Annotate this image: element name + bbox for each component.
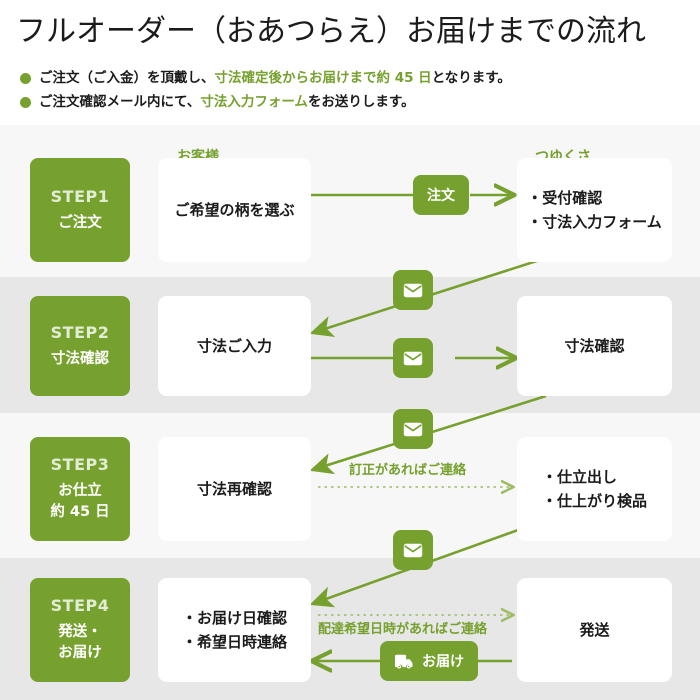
card-shop-step3-line1: ・仕立出し — [542, 465, 647, 489]
bullet-icon — [20, 97, 31, 108]
note-2-text-before: ご注文確認メール内にて、 — [39, 92, 200, 112]
card-customer-step1-text: ご希望の柄を選ぶ — [174, 198, 294, 222]
card-customer-step1: ご希望の柄を選ぶ — [158, 158, 311, 262]
card-shop-step4-text: 発送 — [579, 618, 609, 642]
page-title: フルオーダー（おあつらえ）お届けまでの流れ — [16, 10, 688, 54]
card-shop-step3: ・仕立出し ・仕上がり検品 — [517, 437, 672, 541]
mail-icon — [403, 422, 423, 437]
step-2-number: STEP2 — [51, 323, 110, 342]
badge-mail-3[interactable] — [393, 409, 433, 449]
card-shop-step3-line2: ・仕上がり検品 — [542, 489, 647, 513]
header: フルオーダー（おあつらえ）お届けまでの流れ ご注文（ご入金）を頂戴し、 寸法確定… — [0, 0, 700, 125]
card-shop-step2-text: 寸法確認 — [564, 334, 624, 358]
badge-delivery-label: お届け — [422, 651, 464, 671]
card-customer-step4-line1: ・お届け日確認 — [182, 606, 287, 630]
step-chip-2: STEP2 寸法確認 — [30, 296, 130, 396]
card-customer-step2-text: 寸法ご入力 — [197, 334, 272, 358]
step-3-name: お仕立 約 45 日 — [50, 481, 109, 523]
step-1-name: ご注文 — [58, 213, 102, 234]
card-customer-step3-text: 寸法再確認 — [197, 477, 272, 501]
card-customer-step4-line2: ・希望日時連絡 — [182, 630, 287, 654]
caption-step3-dotted: 訂正があればご連絡 — [349, 459, 466, 478]
step-chip-1: STEP1 ご注文 — [30, 158, 130, 262]
badge-mail-4[interactable] — [393, 530, 433, 570]
mail-icon — [403, 543, 423, 558]
step-3-name-line1: お仕立 — [58, 483, 102, 499]
step-chip-4: STEP4 発送・ お届け — [30, 578, 130, 682]
note-2-text-after: をお送りします。 — [308, 92, 415, 112]
card-shop-step1: ・受付確認 ・寸法入力フォーム — [517, 158, 672, 262]
step-3-name-line2: 約 45 日 — [50, 504, 109, 520]
note-line-1: ご注文（ご入金）を頂戴し、 寸法確定後からお届けまで約 45 日 となります。 — [20, 68, 511, 88]
step-4-number: STEP4 — [51, 596, 110, 615]
badge-mail-2[interactable] — [393, 338, 433, 378]
step-3-number: STEP3 — [51, 455, 110, 474]
mail-icon — [403, 283, 423, 298]
card-shop-step2: 寸法確認 — [517, 296, 672, 396]
flow-diagram-page: フルオーダー（おあつらえ）お届けまでの流れ ご注文（ご入金）を頂戴し、 寸法確定… — [0, 0, 700, 700]
mail-icon — [403, 351, 423, 366]
badge-order-label: 注文 — [427, 185, 455, 205]
step-4-name-line1: 発送・ — [58, 624, 102, 640]
badge-delivery[interactable]: お届け — [380, 641, 478, 681]
card-customer-step4: ・お届け日確認 ・希望日時連絡 — [158, 578, 311, 682]
card-shop-step1-line1: ・受付確認 — [527, 186, 662, 210]
step-chip-3: STEP3 お仕立 約 45 日 — [30, 437, 130, 541]
note-2-accent: 寸法入力フォーム — [200, 92, 308, 112]
note-1-text-before: ご注文（ご入金）を頂戴し、 — [39, 68, 215, 88]
truck-icon — [394, 654, 415, 669]
note-1-accent: 寸法確定後からお届けまで約 45 日 — [215, 68, 432, 88]
card-customer-step3: 寸法再確認 — [158, 437, 311, 541]
step-4-name-line2: お届け — [58, 645, 102, 661]
bullet-icon — [20, 73, 31, 84]
caption-step4-dotted: 配達希望日時があればご連絡 — [318, 618, 487, 637]
step-4-name: 発送・ お届け — [58, 622, 102, 664]
card-customer-step2: 寸法ご入力 — [158, 296, 311, 396]
note-line-2: ご注文確認メール内にて、 寸法入力フォーム をお送りします。 — [20, 92, 415, 112]
note-1-text-after: となります。 — [432, 68, 511, 88]
step-1-number: STEP1 — [51, 187, 110, 206]
card-shop-step4: 発送 — [517, 578, 672, 682]
badge-order[interactable]: 注文 — [413, 175, 469, 215]
step-2-name: 寸法確認 — [51, 349, 109, 370]
badge-mail-1[interactable] — [393, 270, 433, 310]
card-shop-step1-line2: ・寸法入力フォーム — [527, 210, 662, 234]
